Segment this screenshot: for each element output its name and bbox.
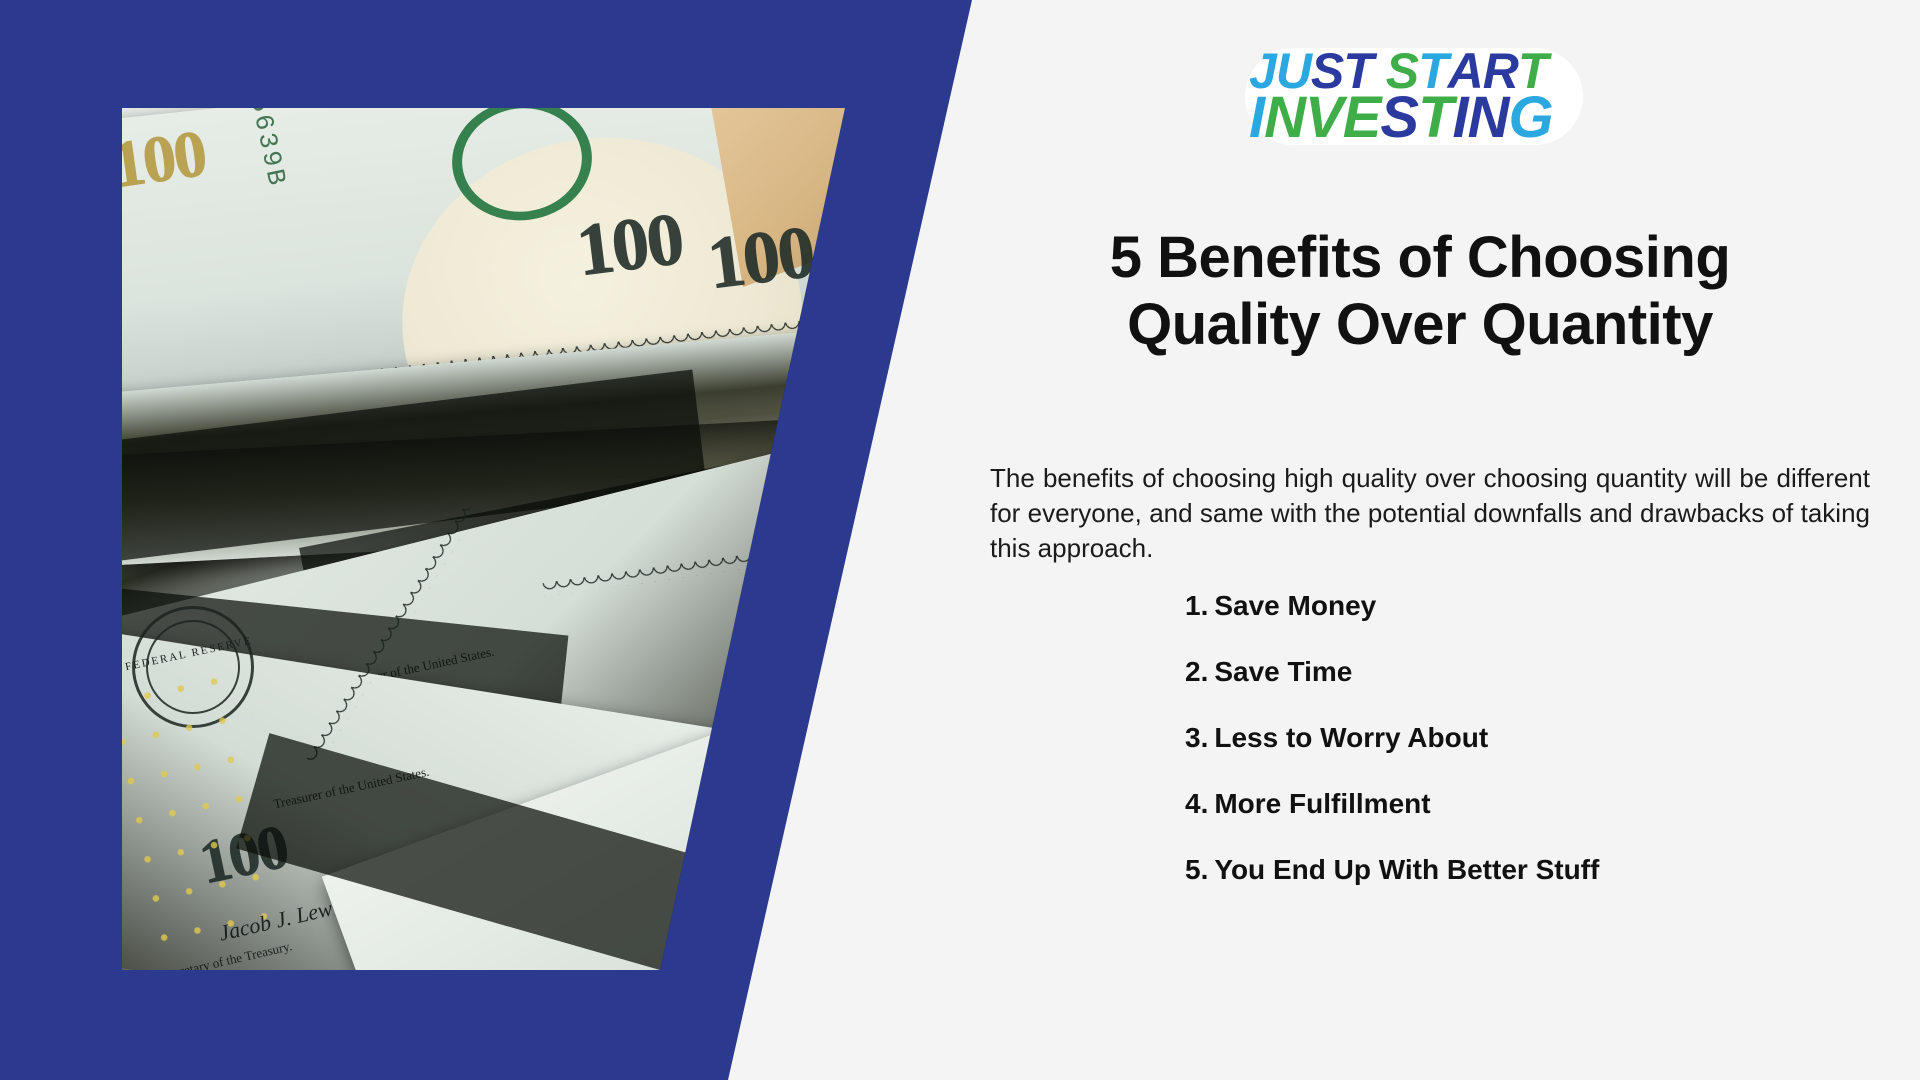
- brand-logo-letter: E: [1343, 93, 1381, 143]
- denomination-mark: 100: [122, 116, 210, 204]
- brand-logo-letter: I: [1453, 93, 1468, 143]
- brand-logo-line-2: INVESTING: [1249, 93, 1579, 143]
- benefit-list-item: 3.Less to Worry About: [1185, 722, 1885, 754]
- denomination-mark: 100: [572, 197, 687, 294]
- page-title: 5 Benefits of Choosing Quality Over Quan…: [970, 224, 1870, 359]
- slide-canvas: 15639B 100 100 100 100 Treasurer of the …: [0, 0, 1920, 1080]
- benefit-label: More Fulfillment: [1214, 788, 1430, 819]
- page-title-line-1: 5 Benefits of Choosing: [970, 224, 1870, 291]
- denomination-mark: 100: [703, 210, 818, 307]
- benefit-number: 2.: [1185, 656, 1208, 687]
- brand-logo-letter: T: [1418, 93, 1452, 143]
- benefit-label: You End Up With Better Stuff: [1214, 854, 1599, 885]
- benefits-list: 1.Save Money2.Save Time3.Less to Worry A…: [1185, 590, 1885, 920]
- benefit-list-item: 1.Save Money: [1185, 590, 1885, 622]
- brand-logo[interactable]: JUST START INVESTING: [1245, 48, 1583, 145]
- benefit-list-item: 2.Save Time: [1185, 656, 1885, 688]
- content-column: JUST START INVESTING 5 Benefits of Choos…: [970, 0, 1920, 1080]
- page-title-line-2: Quality Over Quantity: [970, 291, 1870, 358]
- brand-logo-letter: N: [1264, 93, 1305, 143]
- brand-logo-letter: I: [1249, 93, 1264, 143]
- benefit-number: 3.: [1185, 722, 1208, 753]
- brand-logo-letter: S: [1380, 93, 1418, 143]
- benefit-label: Less to Worry About: [1214, 722, 1488, 753]
- brand-logo-letter: N: [1468, 93, 1509, 143]
- benefit-list-item: 5.You End Up With Better Stuff: [1185, 854, 1885, 886]
- brand-logo-letter: G: [1509, 93, 1553, 143]
- benefit-number: 4.: [1185, 788, 1208, 819]
- benefit-number: 5.: [1185, 854, 1208, 885]
- intro-paragraph: The benefits of choosing high quality ov…: [990, 461, 1870, 566]
- benefit-list-item: 4.More Fulfillment: [1185, 788, 1885, 820]
- benefit-number: 1.: [1185, 590, 1208, 621]
- benefit-label: Save Time: [1214, 656, 1352, 687]
- benefit-label: Save Money: [1214, 590, 1376, 621]
- brand-logo-letter: V: [1305, 93, 1343, 143]
